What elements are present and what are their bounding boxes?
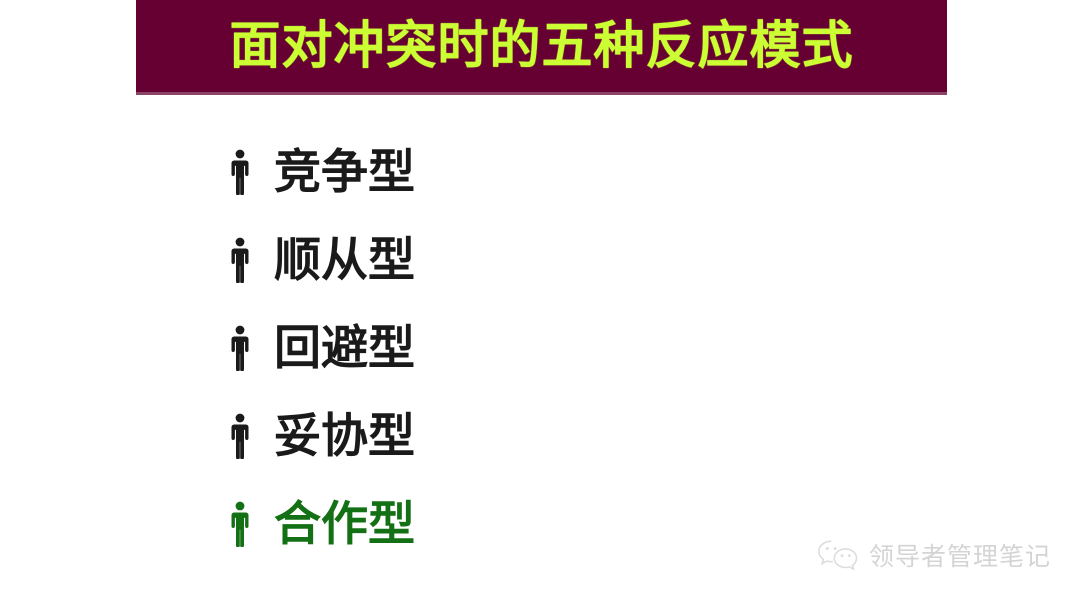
list-item[interactable]: 竞争型 [228,128,848,216]
list-item[interactable]: 妥协型 [228,392,848,480]
list-item-label: 合作型 [274,501,415,548]
list-item-label: 回避型 [274,325,415,372]
list-item[interactable]: 合作型 [228,480,848,568]
person-icon [228,148,252,196]
watermark: 领导者管理笔记 [816,538,1051,574]
list-item[interactable]: 回避型 [228,304,848,392]
reaction-mode-list: 竞争型 顺从型 回避型 [228,128,848,568]
person-icon [228,500,252,548]
wechat-icon [816,538,860,574]
title-banner: 面对冲突时的五种反应模式 [136,0,947,92]
person-icon [228,236,252,284]
page-title: 面对冲突时的五种反应模式 [136,0,947,92]
list-item-label: 竞争型 [274,149,415,196]
title-banner-underline [136,92,947,95]
list-item-label: 顺从型 [274,237,415,284]
person-icon [228,412,252,460]
list-item-label: 妥协型 [274,413,415,460]
list-item[interactable]: 顺从型 [228,216,848,304]
person-icon [228,324,252,372]
watermark-label: 领导者管理笔记 [869,544,1051,569]
slide-canvas: 面对冲突时的五种反应模式 竞争型 顺从型 [0,0,1080,608]
